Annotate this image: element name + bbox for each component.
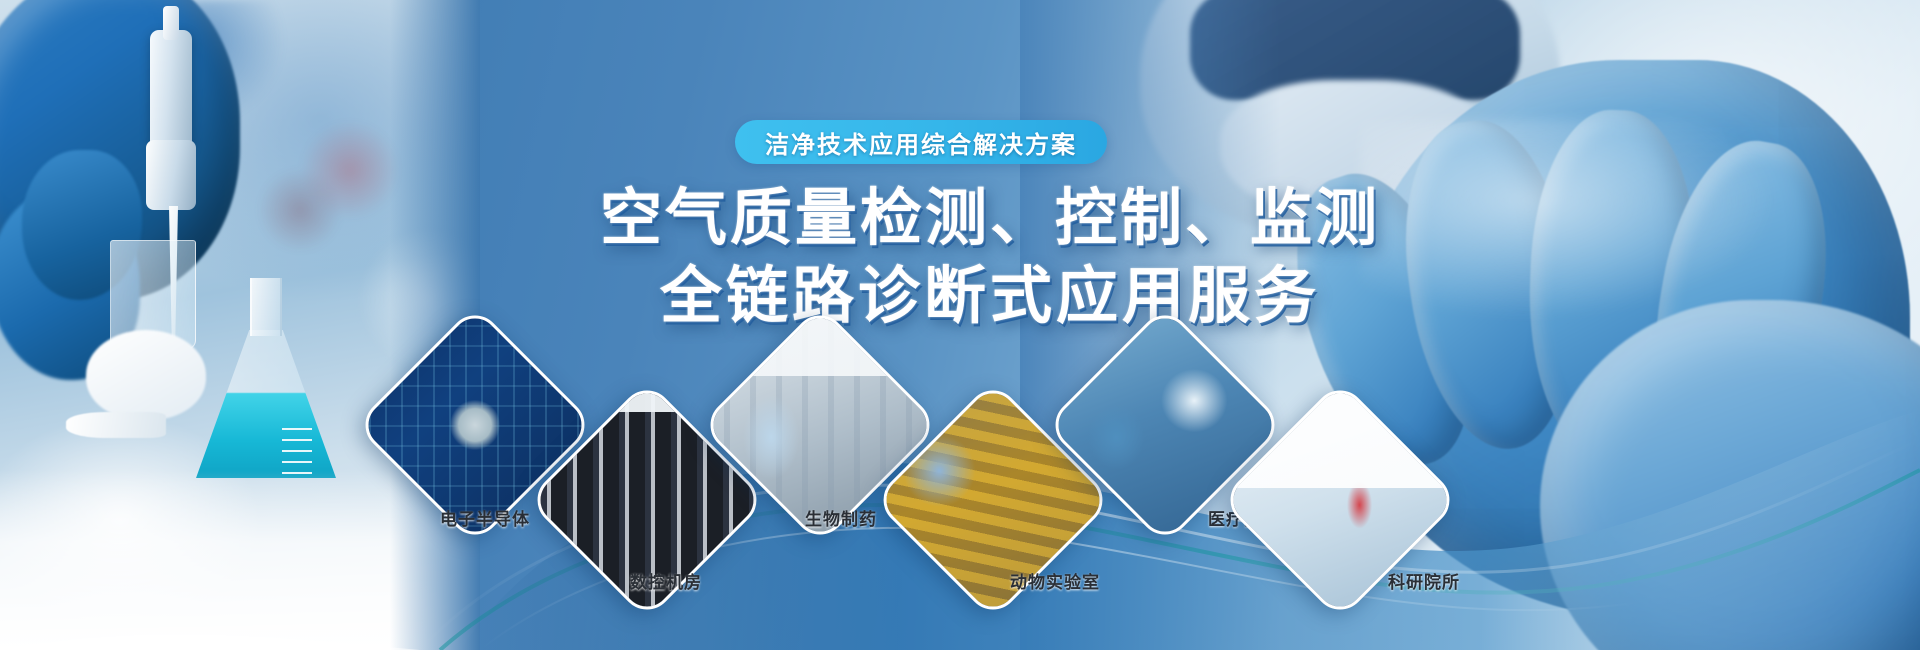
hero-banner: 洁净技术应用综合解决方案 空气质量检测、控制、监测 全链路诊断式应用服务 电子半… — [0, 0, 1920, 650]
industry-card-label-research[interactable]: 科研院所 — [1388, 568, 1460, 593]
industry-card-label-electronics[interactable]: 电子半导体 — [440, 505, 530, 530]
industry-card-label-animal-lab[interactable]: 动物实验室 — [1010, 568, 1100, 593]
industry-card-label-pharma[interactable]: 生物制药 — [805, 505, 877, 530]
industry-card-row: 电子半导体 数控机房 生物制药 动物实验室 医疗疾控 科研院所 — [0, 0, 1920, 650]
industry-card-label-datacenter[interactable]: 数控机房 — [630, 568, 702, 593]
